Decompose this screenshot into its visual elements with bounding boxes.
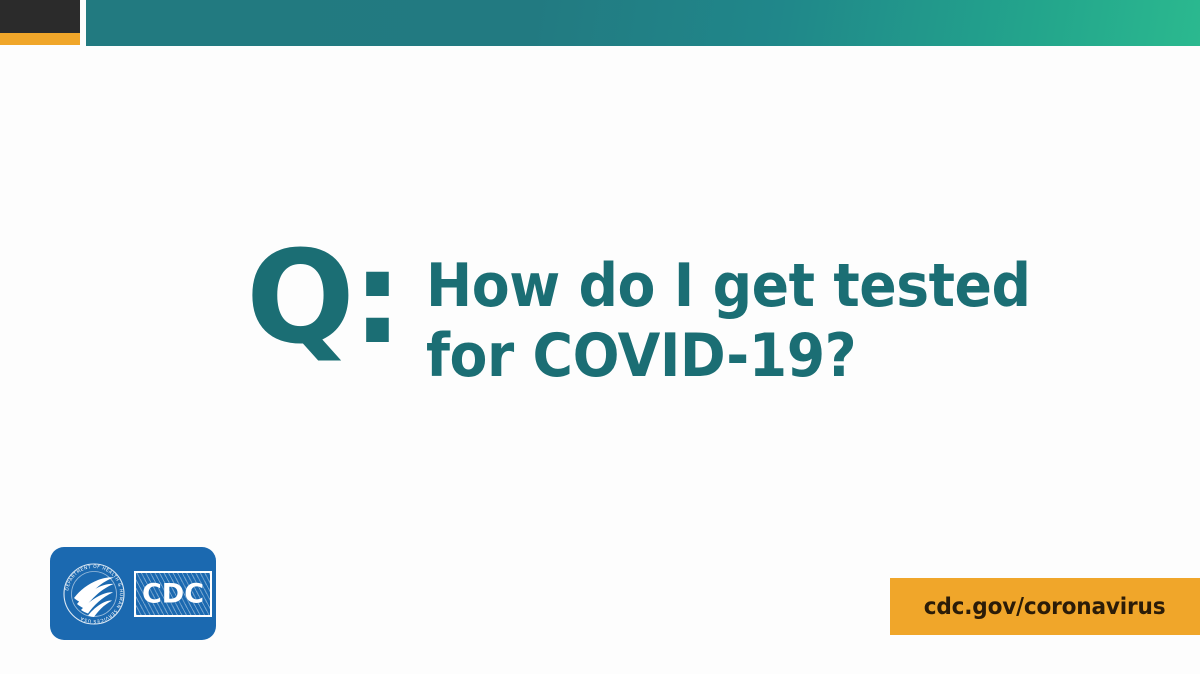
url-banner-text: cdc.gov/coronavirus bbox=[924, 594, 1166, 620]
header-left-accent-strip bbox=[0, 33, 80, 45]
url-banner[interactable]: cdc.gov/coronavirus bbox=[890, 578, 1200, 635]
cdc-logo: DEPARTMENT OF HEALTH & HUMAN SERVICES US… bbox=[50, 547, 216, 640]
header-gradient-band bbox=[86, 0, 1200, 46]
top-header-bar bbox=[0, 0, 1200, 47]
header-left-dark-block bbox=[0, 0, 80, 33]
question-prefix: Q: bbox=[246, 240, 400, 358]
cdc-wordmark-text: CDC bbox=[136, 580, 210, 607]
question-text: How do I get tested for COVID-19? bbox=[426, 252, 1070, 391]
hhs-department-seal-icon: DEPARTMENT OF HEALTH & HUMAN SERVICES US… bbox=[60, 560, 128, 628]
cdc-wordmark-box: CDC bbox=[134, 571, 212, 617]
question-block: Q: How do I get tested for COVID-19? bbox=[246, 238, 1126, 391]
